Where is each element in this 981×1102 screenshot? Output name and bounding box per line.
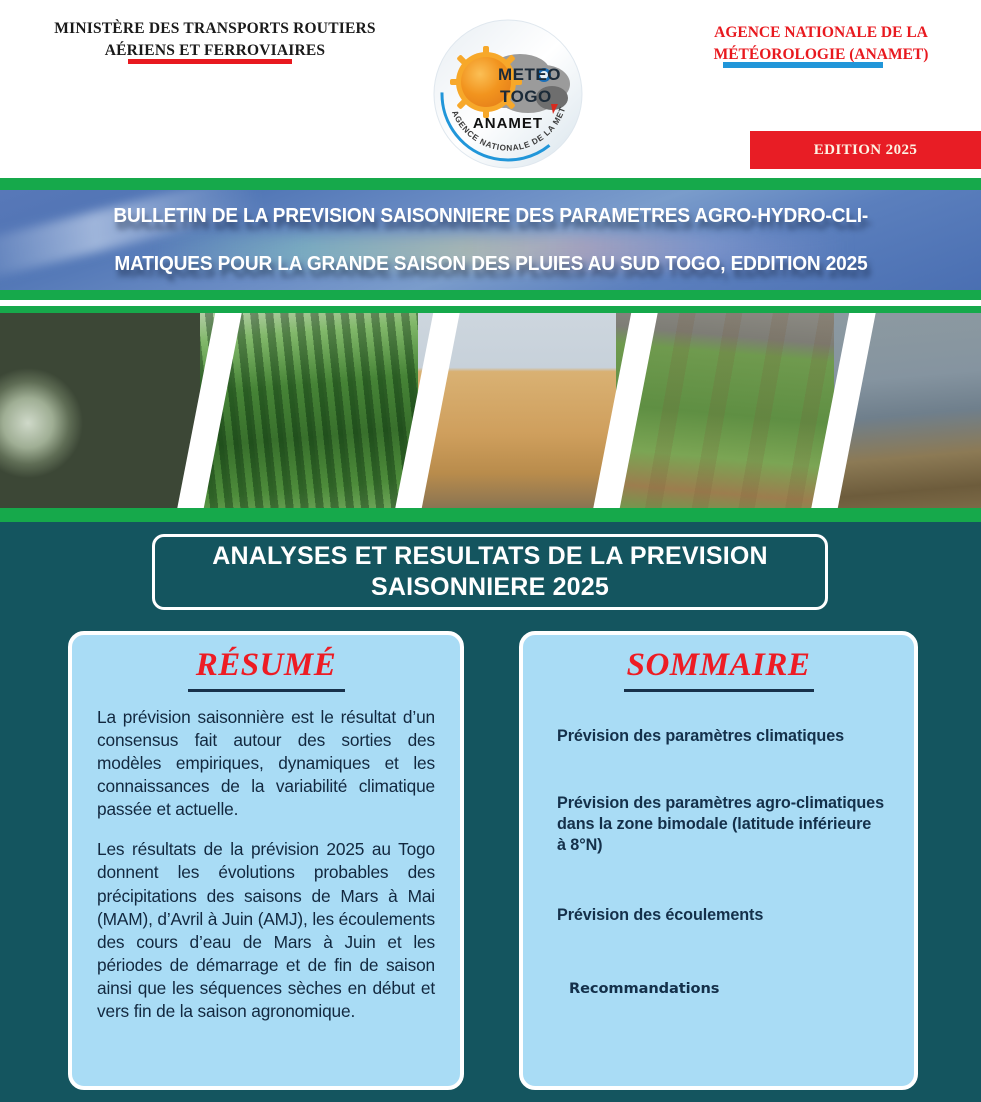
ministry-underline-rule bbox=[128, 59, 292, 64]
sommaire-panel: SOMMAIRE Prévision des paramètres climat… bbox=[519, 631, 918, 1090]
edition-badge-label: EDITION 2025 bbox=[750, 131, 981, 169]
resume-body: La prévision saisonnière est le résultat… bbox=[72, 692, 460, 1023]
banner-title-line-1: BULLETIN DE LA PREVISION SAISONNIERE DES… bbox=[113, 192, 868, 240]
green-divider-bar-top bbox=[0, 178, 981, 190]
photo-strip bbox=[0, 313, 981, 508]
banner-title-line-2: MATIQUES POUR LA GRANDE SAISON DES PLUIE… bbox=[114, 240, 867, 288]
resume-heading: RÉSUMÉ bbox=[72, 647, 460, 684]
section-title-line-2: SAISONNIERE 2025 bbox=[371, 572, 609, 603]
title-banner: BULLETIN DE LA PREVISION SAISONNIERE DES… bbox=[0, 190, 981, 290]
logo-brand-line-2: TOGO bbox=[500, 87, 552, 106]
section-title-box: ANALYSES ET RESULTATS DE LA PREVISION SA… bbox=[152, 534, 828, 610]
sommaire-body: Prévision des paramètres climatiques Pré… bbox=[523, 692, 914, 999]
resume-paragraph: La prévision saisonnière est le résultat… bbox=[97, 706, 435, 821]
banner-title: BULLETIN DE LA PREVISION SAISONNIERE DES… bbox=[0, 190, 981, 290]
ministry-line-1: MINISTÈRE DES TRANSPORTS ROUTIERS bbox=[40, 18, 390, 40]
agency-underline-rule bbox=[723, 62, 883, 68]
green-divider-bar-second bbox=[0, 290, 981, 300]
edition-badge: EDITION 2025 bbox=[750, 131, 981, 169]
sommaire-item-climatic-parameters[interactable]: Prévision des paramètres climatiques bbox=[557, 726, 884, 747]
agency-name: AGENCE NATIONALE DE LA MÉTÉOROLOGIE (ANA… bbox=[676, 22, 966, 66]
green-divider-bar-third bbox=[0, 306, 981, 313]
bulletin-cover-page: MINISTÈRE DES TRANSPORTS ROUTIERS AÉRIEN… bbox=[0, 0, 981, 1102]
sommaire-item-recommendations[interactable]: Recommandations bbox=[569, 980, 884, 999]
green-divider-bar-bottom bbox=[0, 508, 981, 522]
resume-paragraph: Les résultats de la prévision 2025 au To… bbox=[97, 838, 435, 1023]
photo-sunshine-recorder bbox=[0, 313, 212, 508]
logo-brand-line-1: METEO bbox=[498, 65, 561, 84]
page-header: MINISTÈRE DES TRANSPORTS ROUTIERS AÉRIEN… bbox=[0, 0, 981, 178]
sommaire-item-runoff-forecast[interactable]: Prévision des écoulements bbox=[557, 905, 884, 926]
section-title-line-1: ANALYSES ET RESULTATS DE LA PREVISION bbox=[212, 541, 768, 572]
anamet-logo: METEO TOGO ANAMET AGENCE NATIONALE DE LA… bbox=[432, 18, 584, 170]
ministry-name: MINISTÈRE DES TRANSPORTS ROUTIERS AÉRIEN… bbox=[40, 18, 390, 63]
sommaire-heading: SOMMAIRE bbox=[523, 647, 914, 684]
sommaire-item-agroclimatic-parameters[interactable]: Prévision des paramètres agro-climatique… bbox=[557, 793, 884, 856]
agency-line-1: AGENCE NATIONALE DE LA bbox=[676, 22, 966, 44]
logo-acronym: ANAMET bbox=[473, 115, 543, 132]
resume-panel: RÉSUMÉ La prévision saisonnière est le r… bbox=[68, 631, 464, 1090]
